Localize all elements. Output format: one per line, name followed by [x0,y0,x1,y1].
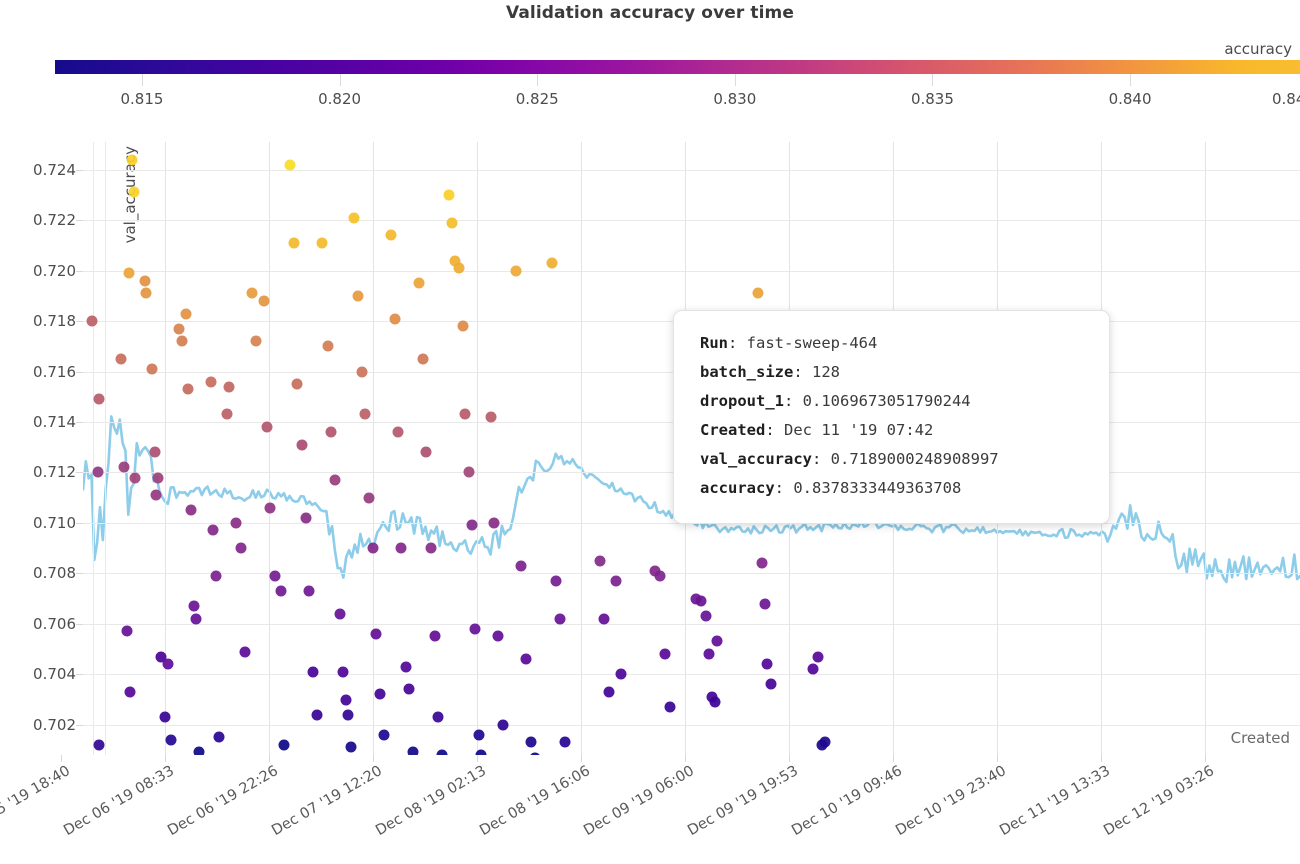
scatter-point[interactable] [115,353,126,364]
scatter-point[interactable] [363,492,374,503]
y-tick-mark [76,170,83,171]
colorbar-tick [537,74,538,86]
gridline-vertical [1205,142,1206,755]
scatter-point[interactable] [239,646,250,657]
scatter-point[interactable] [446,217,457,228]
scatter-point[interactable] [385,230,396,241]
scatter-point[interactable] [701,611,712,622]
scatter-point[interactable] [421,447,432,458]
scatter-point[interactable] [353,290,364,301]
tooltip-separator: : [775,479,794,497]
scatter-point[interactable] [345,742,356,753]
x-tick-mark [373,755,374,762]
tooltip-row: batch_size: 128 [700,358,1083,387]
scatter-point[interactable] [276,586,287,597]
scatter-point[interactable] [457,321,468,332]
scatter-point[interactable] [270,570,281,581]
gridline-vertical [105,142,106,755]
y-tick-mark [76,674,83,675]
scatter-point[interactable] [433,712,444,723]
scatter-point[interactable] [378,729,389,740]
gridline-vertical [477,142,478,755]
gridline-vertical [373,142,374,755]
tooltip-key: Created [700,421,765,439]
tooltip-separator: : [784,392,803,410]
x-tick-mark [685,755,686,762]
scatter-point[interactable] [395,543,406,554]
scatter-point[interactable] [231,517,242,528]
scatter-point[interactable] [125,686,136,697]
colorbar-tick [142,74,143,86]
gridline-vertical [93,142,94,755]
scatter-point[interactable] [188,601,199,612]
scatter-point[interactable] [511,265,522,276]
tooltip-separator: : [765,421,784,439]
scatter-point[interactable] [224,381,235,392]
scatter-point[interactable] [454,263,465,274]
scatter-point[interactable] [555,613,566,624]
tooltip-value: Dec 11 '19 07:42 [784,421,933,439]
scatter-point[interactable] [129,187,140,198]
y-tick-label: 0.710 [33,514,76,532]
colorbar-ticks: 0.8150.8200.8250.8300.8350.8400.84 [0,74,1300,122]
x-tick-mark [893,755,894,762]
scatter-point[interactable] [308,666,319,677]
scatter-point[interactable] [485,411,496,422]
colorbar-tick-label: 0.835 [911,90,954,108]
scatter-point[interactable] [165,734,176,745]
scatter-point[interactable] [93,394,104,405]
tooltip-row: dropout_1: 0.1069673051790244 [700,387,1083,416]
scatter-point[interactable] [92,467,103,478]
scatter-point[interactable] [404,684,415,695]
scatter-point[interactable] [221,409,232,420]
scatter-point[interactable] [126,154,137,165]
scatter-point[interactable] [546,258,557,269]
scatter-point[interactable] [444,189,455,200]
y-tick-label: 0.706 [33,615,76,633]
scatter-point[interactable] [460,409,471,420]
scatter-point[interactable] [86,316,97,327]
chart-root: Validation accuracy over time accuracy 0… [0,0,1300,864]
scatter-point[interactable] [429,631,440,642]
colorbar-tick-label: 0.830 [713,90,756,108]
y-tick-label: 0.718 [33,312,76,330]
x-tick-mark [477,755,478,762]
tooltip-key: dropout_1 [700,392,784,410]
colorbar-gradient[interactable] [55,60,1300,74]
scatter-point[interactable] [278,739,289,750]
colorbar-label: accuracy [1224,40,1292,58]
tooltip-key: val_accuracy [700,450,812,468]
y-tick-mark [76,422,83,423]
y-tick-label: 0.708 [33,564,76,582]
scatter-point[interactable] [757,558,768,569]
gridline-horizontal [83,573,1300,574]
scatter-point[interactable] [159,712,170,723]
tooltip-row: Run: fast-sweep-464 [700,329,1083,358]
scatter-point[interactable] [182,384,193,395]
y-tick-mark [76,624,83,625]
scatter-point[interactable] [304,586,315,597]
gridline-horizontal [83,674,1300,675]
scatter-point[interactable] [654,570,665,581]
scatter-point[interactable] [174,323,185,334]
x-tick-mark [1205,755,1206,762]
scatter-point[interactable] [338,666,349,677]
colorbar: accuracy 0.8150.8200.8250.8300.8350.8400… [0,40,1300,122]
scatter-point[interactable] [492,631,503,642]
scatter-point[interactable] [193,747,204,755]
scatter-point[interactable] [473,729,484,740]
colorbar-tick-label: 0.825 [516,90,559,108]
scatter-point[interactable] [371,628,382,639]
x-tick-mark [789,755,790,762]
y-tick-label: 0.716 [33,363,76,381]
scatter-point[interactable] [208,525,219,536]
run-tooltip: Run: fast-sweep-464batch_size: 128dropou… [673,310,1110,524]
tooltip-value: 0.8378333449363708 [793,479,961,497]
tooltip-value: 0.1069673051790244 [803,392,971,410]
scatter-point[interactable] [489,517,500,528]
scatter-point[interactable] [407,747,418,755]
scatter-point[interactable] [595,555,606,566]
y-tick-mark [76,523,83,524]
scatter-point[interactable] [236,543,247,554]
x-axis-title: Created [1231,729,1290,747]
x-tick-mark [61,755,62,762]
scatter-point[interactable] [163,659,174,670]
tooltip-row: val_accuracy: 0.7189000248908997 [700,445,1083,474]
scatter-point[interactable] [417,353,428,364]
scatter-point[interactable] [205,376,216,387]
scatter-point[interactable] [374,689,385,700]
x-tick-mark [581,755,582,762]
scatter-point[interactable] [360,409,371,420]
scatter-point[interactable] [265,502,276,513]
scatter-point[interactable] [316,237,327,248]
scatter-point[interactable] [559,737,570,748]
scatter-point[interactable] [149,447,160,458]
scatter-point[interactable] [709,697,720,708]
colorbar-tick-label: 0.84 [1272,90,1300,108]
y-tick-mark [76,472,83,473]
scatter-point[interactable] [176,336,187,347]
scatter-point[interactable] [147,364,158,375]
scatter-point[interactable] [297,439,308,450]
gridline-horizontal [83,624,1300,625]
scatter-point[interactable] [140,275,151,286]
x-tick-mark [269,755,270,762]
page-title: Validation accuracy over time [0,0,1300,26]
scatter-point[interactable] [598,613,609,624]
scatter-point[interactable] [349,212,360,223]
scatter-point[interactable] [259,295,270,306]
colorbar-tick-label: 0.840 [1109,90,1152,108]
scatter-point[interactable] [292,379,303,390]
scatter-point[interactable] [326,427,337,438]
scatter-point[interactable] [250,336,261,347]
scatter-point[interactable] [813,651,824,662]
scatter-point[interactable] [664,702,675,713]
scatter-point[interactable] [121,626,132,637]
tooltip-value: fast-sweep-464 [747,334,878,352]
scatter-point[interactable] [753,288,764,299]
y-tick-mark [76,220,83,221]
scatter-point[interactable] [210,570,221,581]
scatter-point[interactable] [659,649,670,660]
y-tick-label: 0.704 [33,665,76,683]
scatter-point[interactable] [284,159,295,170]
scatter-point[interactable] [186,505,197,516]
tooltip-key: batch_size [700,363,793,381]
scatter-point[interactable] [525,737,536,748]
scatter-point[interactable] [551,575,562,586]
scatter-point[interactable] [141,288,152,299]
scatter-point[interactable] [467,520,478,531]
y-tick-mark [76,372,83,373]
scatter-point[interactable] [356,366,367,377]
scatter-point[interactable] [703,649,714,660]
scatter-point[interactable] [413,278,424,289]
gridline-horizontal [83,725,1300,726]
y-tick-label: 0.702 [33,716,76,734]
scatter-point[interactable] [615,669,626,680]
scatter-point[interactable] [603,686,614,697]
scatter-point[interactable] [520,654,531,665]
y-tick-mark [76,271,83,272]
gridline-horizontal [83,271,1300,272]
tooltip-value: 0.7189000248908997 [831,450,999,468]
scatter-point[interactable] [820,737,831,748]
y-tick-label: 0.720 [33,262,76,280]
scatter-point[interactable] [119,462,130,473]
tooltip-separator: : [793,363,812,381]
scatter-point[interactable] [329,475,340,486]
y-tick-label: 0.712 [33,463,76,481]
tooltip-key: accuracy [700,479,775,497]
tooltip-separator: : [812,450,831,468]
scatter-point[interactable] [759,598,770,609]
scatter-point[interactable] [761,659,772,670]
scatter-point[interactable] [151,490,162,501]
scatter-point[interactable] [712,636,723,647]
scatter-point[interactable] [808,664,819,675]
scatter-point[interactable] [247,288,258,299]
x-tick-mark [1101,755,1102,762]
scatter-point[interactable] [611,575,622,586]
colorbar-tick-label: 0.815 [120,90,163,108]
tooltip-row: Created: Dec 11 '19 07:42 [700,416,1083,445]
tooltip-value: 128 [812,363,840,381]
scatter-point[interactable] [93,739,104,750]
scatter-point[interactable] [261,422,272,433]
scatter-point[interactable] [322,341,333,352]
scatter-point[interactable] [463,467,474,478]
scatter-point[interactable] [181,308,192,319]
scatter-point[interactable] [130,472,141,483]
scatter-point[interactable] [334,608,345,619]
tooltip-row: accuracy: 0.8378333449363708 [700,474,1083,503]
scatter-point[interactable] [300,512,311,523]
scatter-point[interactable] [311,709,322,720]
scatter-point[interactable] [696,596,707,607]
tooltip-key: Run [700,334,728,352]
colorbar-tick [735,74,736,86]
gridline-vertical [269,142,270,755]
scatter-point[interactable] [469,623,480,634]
scatter-point[interactable] [393,427,404,438]
x-tick-mark [165,755,166,762]
scatter-point[interactable] [191,613,202,624]
colorbar-tick [340,74,341,86]
y-tick-mark [76,321,83,322]
colorbar-tick [1130,74,1131,86]
tooltip-separator: : [728,334,747,352]
scatter-point[interactable] [389,313,400,324]
scatter-point[interactable] [340,694,351,705]
gridline-horizontal [83,170,1300,171]
scatter-point[interactable] [214,732,225,743]
scatter-point[interactable] [765,679,776,690]
y-tick-mark [76,725,83,726]
scatter-point[interactable] [288,237,299,248]
x-tick-mark [997,755,998,762]
y-tick-label: 0.724 [33,161,76,179]
gridline-vertical [581,142,582,755]
scatter-point[interactable] [497,719,508,730]
scatter-point[interactable] [426,543,437,554]
scatter-point[interactable] [153,472,164,483]
y-tick-label: 0.714 [33,413,76,431]
scatter-point[interactable] [400,661,411,672]
scatter-point[interactable] [124,268,135,279]
y-tick-mark [76,573,83,574]
scatter-point[interactable] [367,543,378,554]
scatter-point[interactable] [437,750,448,756]
scatter-point[interactable] [516,560,527,571]
scatter-point[interactable] [343,709,354,720]
y-tick-label: 0.722 [33,211,76,229]
colorbar-tick [932,74,933,86]
colorbar-tick-label: 0.820 [318,90,361,108]
gridline-horizontal [83,220,1300,221]
